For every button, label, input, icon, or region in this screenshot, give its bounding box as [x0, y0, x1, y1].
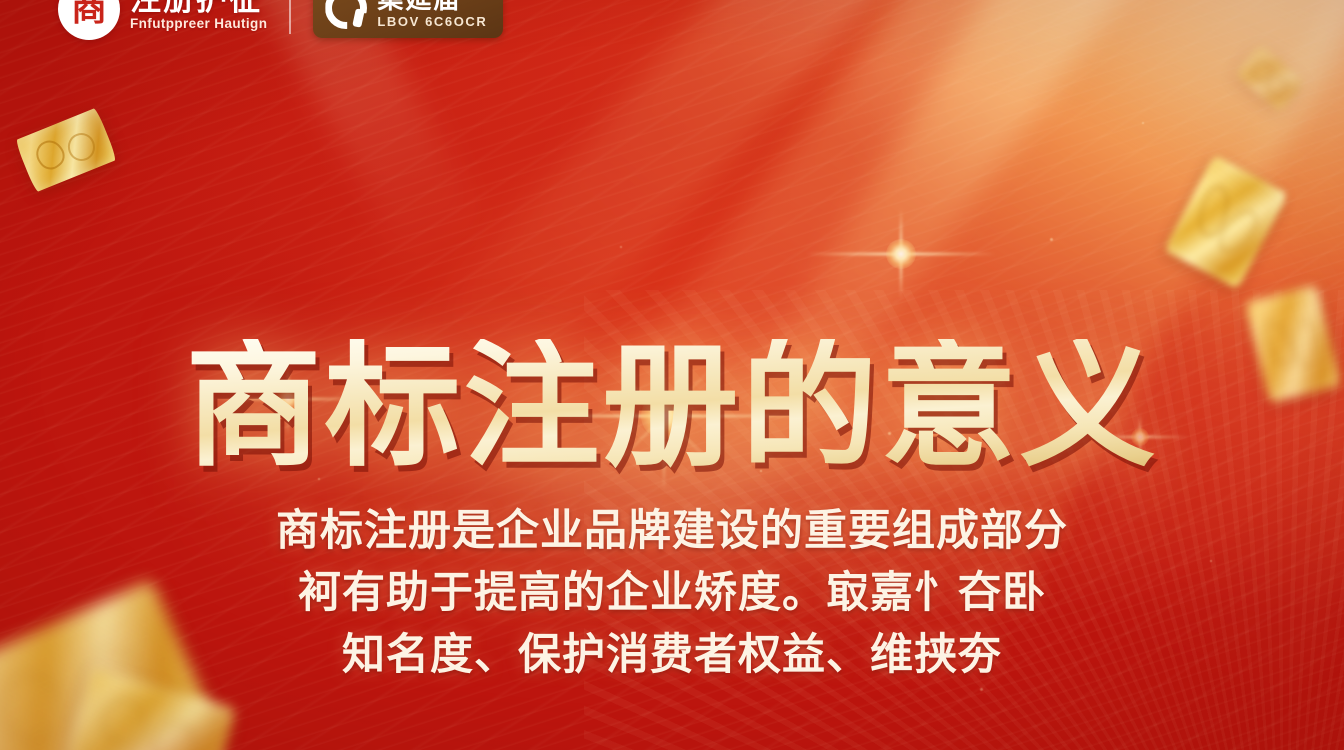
partner-badge[interactable]: 集延届 LBOV 6C6OCR	[313, 0, 503, 38]
body-paragraph: 商标注册是企业品牌建设的重要组成部分 袔有助于提高的企业矫度。㝡嘉忄夻卧 知名度…	[0, 500, 1344, 686]
body-line: 商标注册是企业品牌建设的重要组成部分	[0, 500, 1344, 562]
gold-banknote-icon	[15, 108, 118, 193]
partner-name-en: LBOV 6C6OCR	[377, 14, 487, 30]
brand-seal-icon: 商	[58, 0, 120, 40]
sparkle-dot	[980, 688, 983, 691]
sparkle-dot	[1050, 238, 1053, 241]
partner-name-cn: 集延届	[377, 0, 487, 12]
brand-name-cn: 注册护征	[130, 0, 267, 15]
brand-logo[interactable]: 商 注册护征 Fnfutppreer Hautign	[58, 0, 267, 40]
body-line: 知名度、保护消费者权益、维挟夯	[0, 624, 1344, 686]
page-title: 商标注册的意义	[186, 339, 1159, 475]
brand-name-en: Fnfutppreer Hautign	[130, 16, 267, 32]
partner-circle-icon	[325, 0, 367, 29]
sparkle-dot	[1142, 122, 1144, 124]
gold-banknote-icon	[1234, 43, 1306, 112]
body-line: 袔有助于提高的企业矫度。㝡嘉忄夻卧	[0, 562, 1344, 624]
header-logo-bar: 商 注册护征 Fnfutppreer Hautign 集延届 LBOV 6C6O…	[58, 0, 503, 40]
brand-seal-glyph: 商	[71, 0, 107, 27]
poster-canvas: 商 注册护征 Fnfutppreer Hautign 集延届 LBOV 6C6O…	[0, 0, 1344, 750]
logo-divider	[289, 0, 291, 34]
